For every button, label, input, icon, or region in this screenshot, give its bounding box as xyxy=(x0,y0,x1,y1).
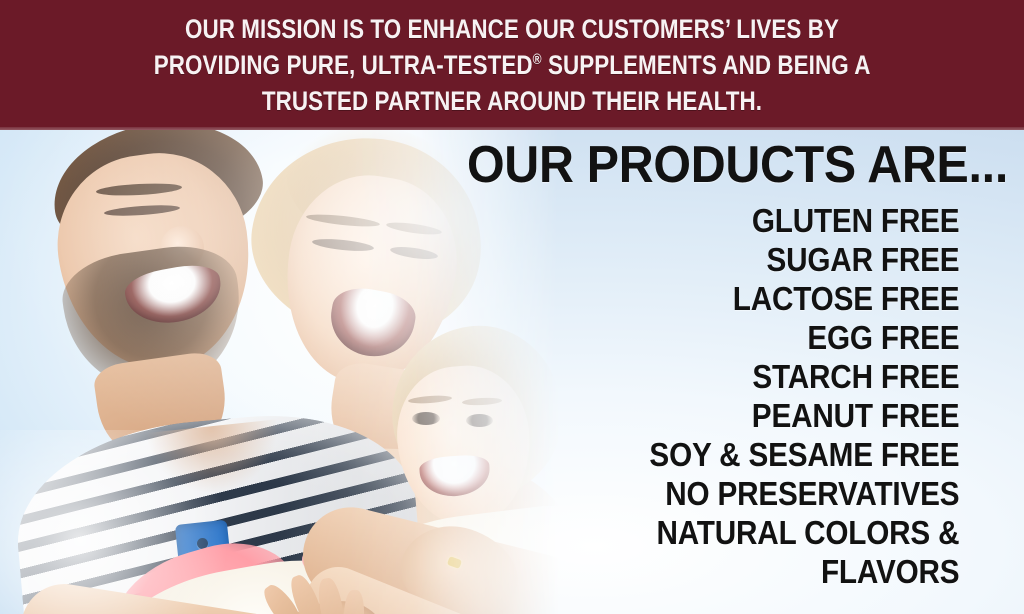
registered-trademark-icon: ® xyxy=(533,52,542,68)
mission-line-3: TRUSTED PARTNER AROUND THEIR HEALTH. xyxy=(262,83,762,119)
mission-line-2-prefix: PROVIDING PURE, ULTRA-TESTED xyxy=(154,50,533,80)
claim-item: GLUTEN FREE xyxy=(457,201,1008,240)
claim-item: SOY & SESAME FREE xyxy=(457,435,1008,474)
promotional-poster: OUR PRODUCTS ARE... GLUTEN FREESUGAR FRE… xyxy=(0,0,1024,614)
claim-item: STARCH FREE xyxy=(457,357,1008,396)
claim-item: LACTOSE FREE xyxy=(457,279,1008,318)
claims-list: GLUTEN FREESUGAR FREELACTOSE FREEEGG FRE… xyxy=(396,201,1008,591)
claim-item: NATURAL COLORS & xyxy=(457,513,1008,552)
mission-line-2: PROVIDING PURE, ULTRA-TESTED® SUPPLEMENT… xyxy=(154,47,871,83)
mission-line-2-suffix: SUPPLEMENTS AND BEING A xyxy=(542,50,871,80)
product-claims-panel: OUR PRODUCTS ARE... GLUTEN FREESUGAR FRE… xyxy=(396,138,1008,591)
page-title: OUR PRODUCTS ARE... xyxy=(439,138,1008,192)
mission-banner: OUR MISSION IS TO ENHANCE OUR CUSTOMERS’… xyxy=(0,0,1024,130)
claim-item: PEANUT FREE xyxy=(457,396,1008,435)
claim-item: NO PRESERVATIVES xyxy=(457,474,1008,513)
claim-item: EGG FREE xyxy=(457,318,1008,357)
photo-haze xyxy=(0,430,260,614)
claim-item: FLAVORS xyxy=(457,552,1008,591)
mission-line-1: OUR MISSION IS TO ENHANCE OUR CUSTOMERS’… xyxy=(185,11,839,47)
claim-item: SUGAR FREE xyxy=(457,240,1008,279)
